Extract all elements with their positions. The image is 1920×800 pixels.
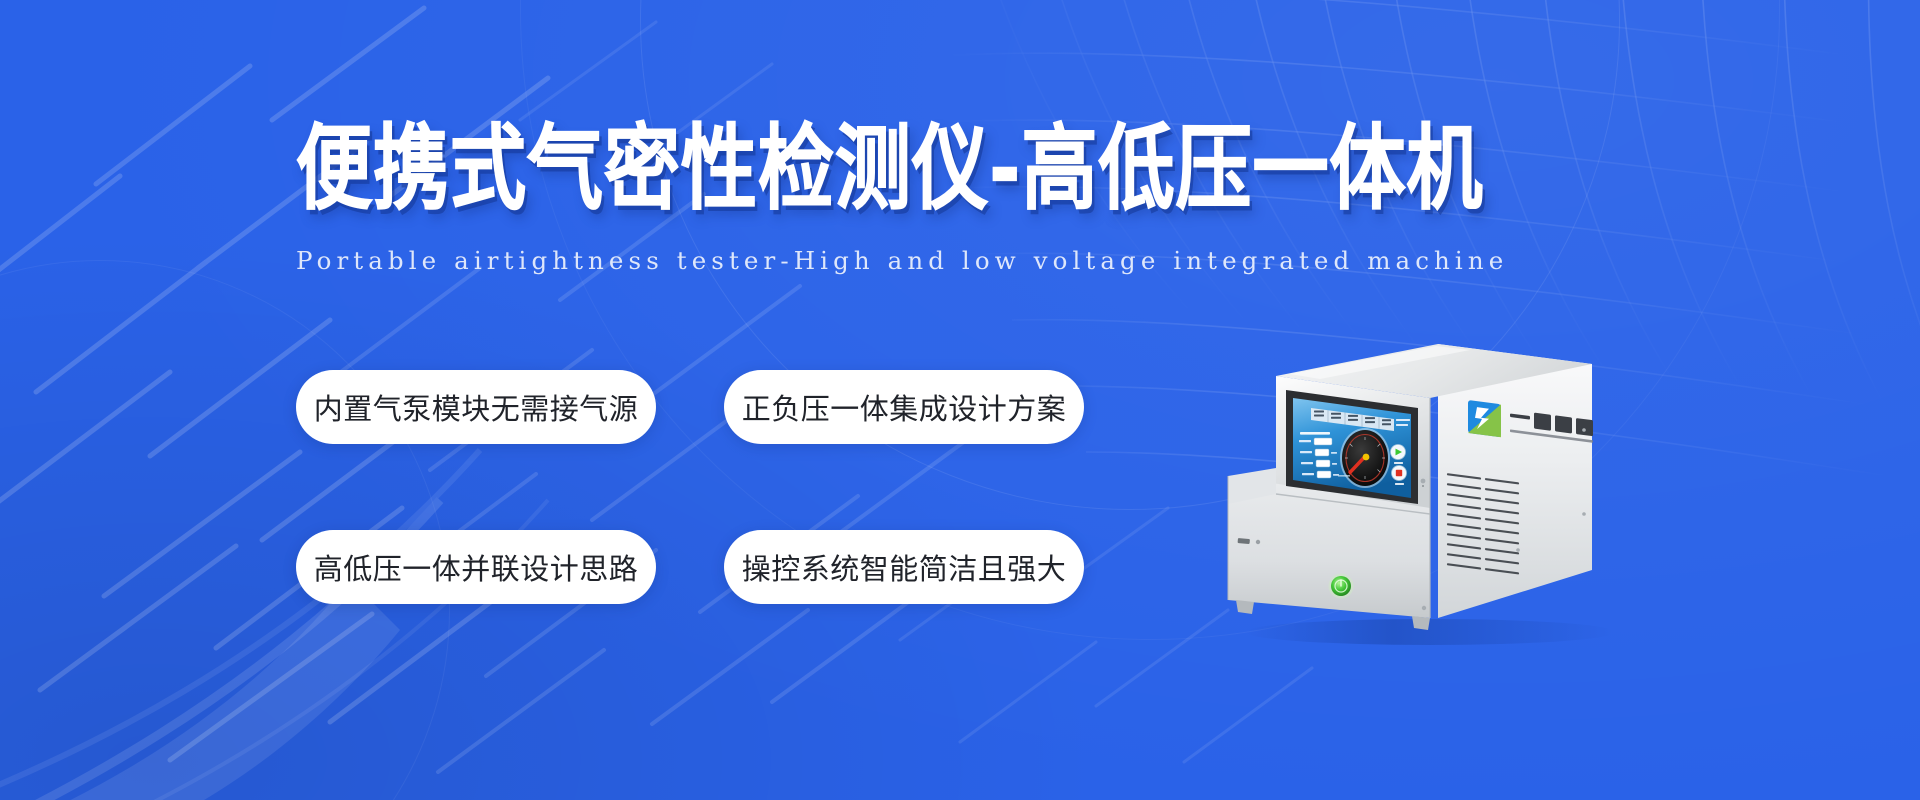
hmi-section-title — [1300, 432, 1330, 435]
page-subtitle: Portable airtightness tester-High and lo… — [296, 246, 1636, 275]
feature-pill-4[interactable]: 操控系统智能简洁且强大 — [724, 530, 1084, 604]
feature-pill-grid: 内置气泵模块无需接气源 正负压一体集成设计方案 高低压一体并联设计思路 操控系统… — [296, 370, 1084, 604]
power-button[interactable] — [1329, 574, 1354, 599]
device-illustration — [1180, 318, 1650, 648]
product-banner: 便携式气密性检测仪-高低压一体机 Portable airtightness t… — [0, 0, 1920, 800]
page-title: 便携式气密性检测仪-高低压一体机 — [296, 120, 1636, 217]
feature-pill-2[interactable]: 正负压一体集成设计方案 — [724, 370, 1084, 444]
product-device-image — [1180, 318, 1650, 648]
feature-pill-1[interactable]: 内置气泵模块无需接气源 — [296, 370, 656, 444]
hmi-gauge — [1340, 428, 1390, 488]
device-shadow — [1245, 619, 1615, 645]
hmi-footer-tag — [1338, 475, 1350, 477]
feature-pill-3[interactable]: 高低压一体并联设计思路 — [296, 530, 656, 604]
hero-text-block: 便携式气密性检测仪-高低压一体机 Portable airtightness t… — [296, 120, 1636, 275]
